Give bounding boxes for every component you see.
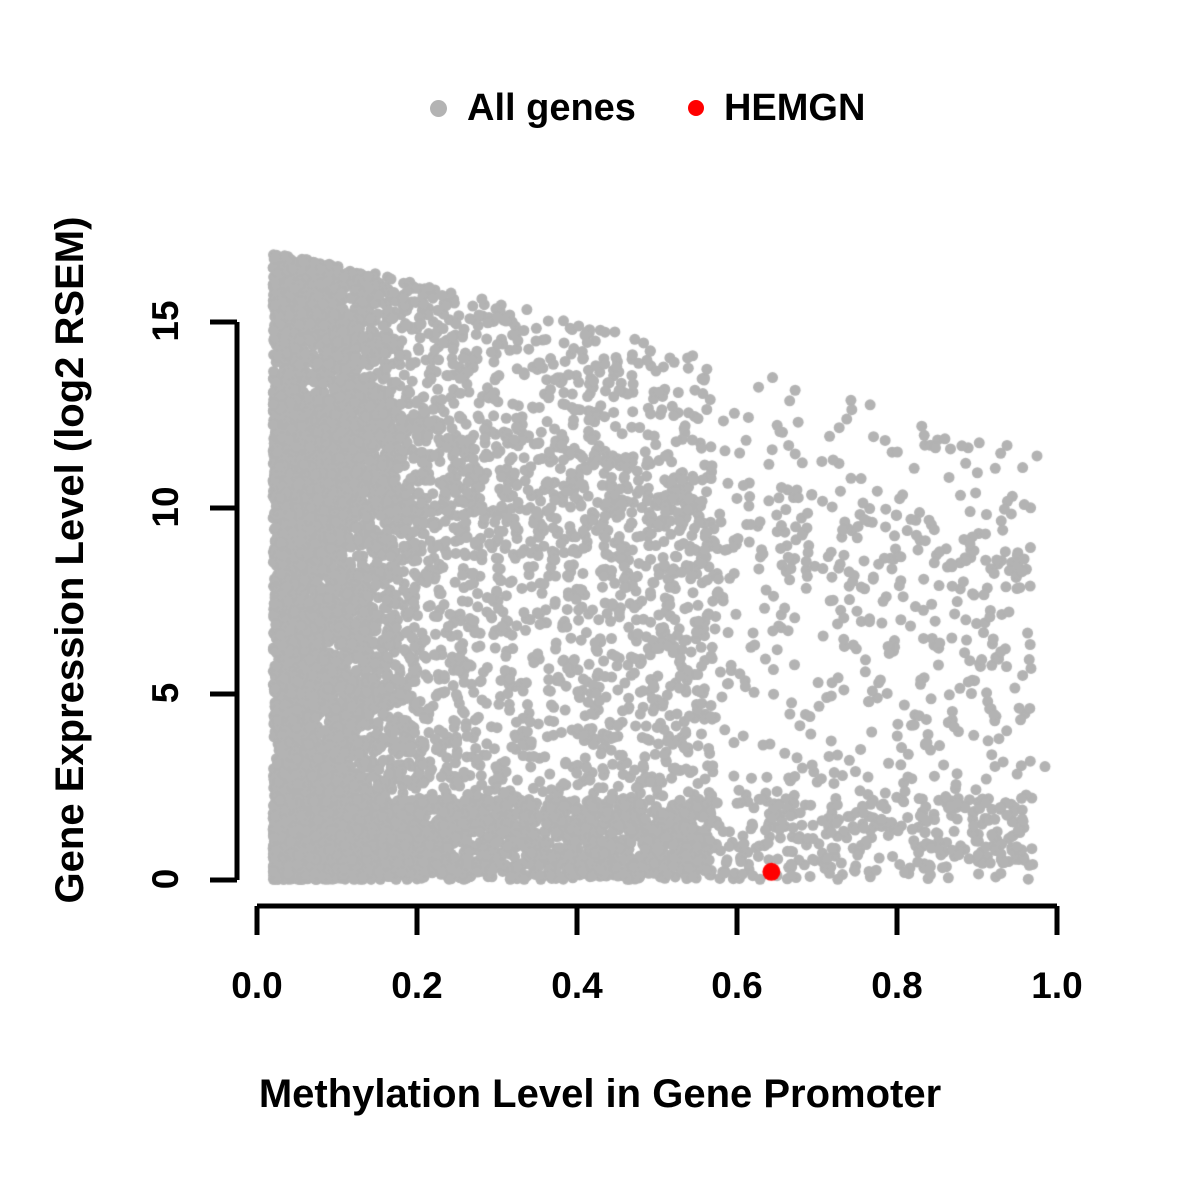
x-axis	[257, 906, 1057, 935]
legend-item-all-genes: All genes	[430, 87, 636, 130]
x-tick-label-1: 0.2	[357, 965, 477, 1007]
legend-marker-circle-icon	[430, 100, 447, 117]
legend-item-hemgn: HEMGN	[688, 87, 865, 130]
plot-axes	[0, 0, 1200, 1200]
x-axis-title: Methylation Level in Gene Promoter	[0, 1072, 1200, 1117]
legend-label-hemgn: HEMGN	[724, 87, 865, 130]
x-tick-label-5: 1.0	[997, 965, 1117, 1007]
x-tick-label-0: 0.0	[197, 965, 317, 1007]
y-tick-label-0: 0	[145, 839, 187, 919]
scatter-plot: All genes HEMGN Methylation Level in Gen…	[0, 0, 1200, 1200]
x-tick-label-4: 0.8	[837, 965, 957, 1007]
y-tick-label-1: 5	[145, 653, 187, 733]
legend-marker-circle-icon	[688, 100, 704, 116]
x-tick-label-3: 0.6	[677, 965, 797, 1007]
y-tick-label-3: 15	[145, 281, 187, 361]
y-axis-title: Gene Expression Level (log2 RSEM)	[48, 130, 93, 990]
x-tick-label-2: 0.4	[517, 965, 637, 1007]
legend: All genes HEMGN	[430, 78, 950, 138]
legend-label-all-genes: All genes	[467, 87, 636, 130]
y-tick-label-2: 10	[145, 467, 187, 547]
y-axis	[210, 322, 237, 880]
